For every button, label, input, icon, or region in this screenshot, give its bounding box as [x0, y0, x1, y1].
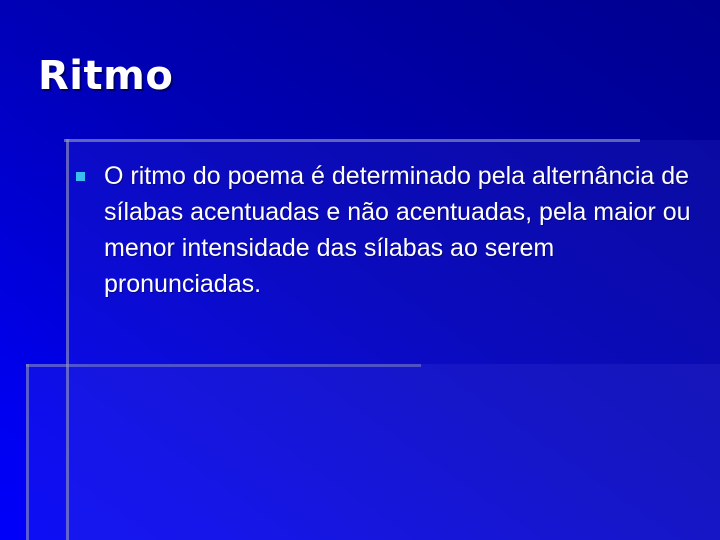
list-item: O ritmo do poema é determinado pela alte… — [72, 158, 692, 302]
content-panel-top-border — [64, 139, 640, 142]
bullet-item-text: O ritmo do poema é determinado pela alte… — [104, 158, 692, 302]
body-bullet-list: O ritmo do poema é determinado pela alte… — [72, 158, 692, 302]
presentation-slide: Ritmo O ritmo do poema é determinado pel… — [0, 0, 720, 540]
title-placeholder: Ritmo — [38, 52, 658, 100]
lower-panel-left-border — [26, 364, 29, 540]
square-bullet-icon — [76, 172, 85, 181]
slide-title: Ritmo — [38, 52, 658, 100]
content-panel-left-border — [66, 139, 69, 540]
